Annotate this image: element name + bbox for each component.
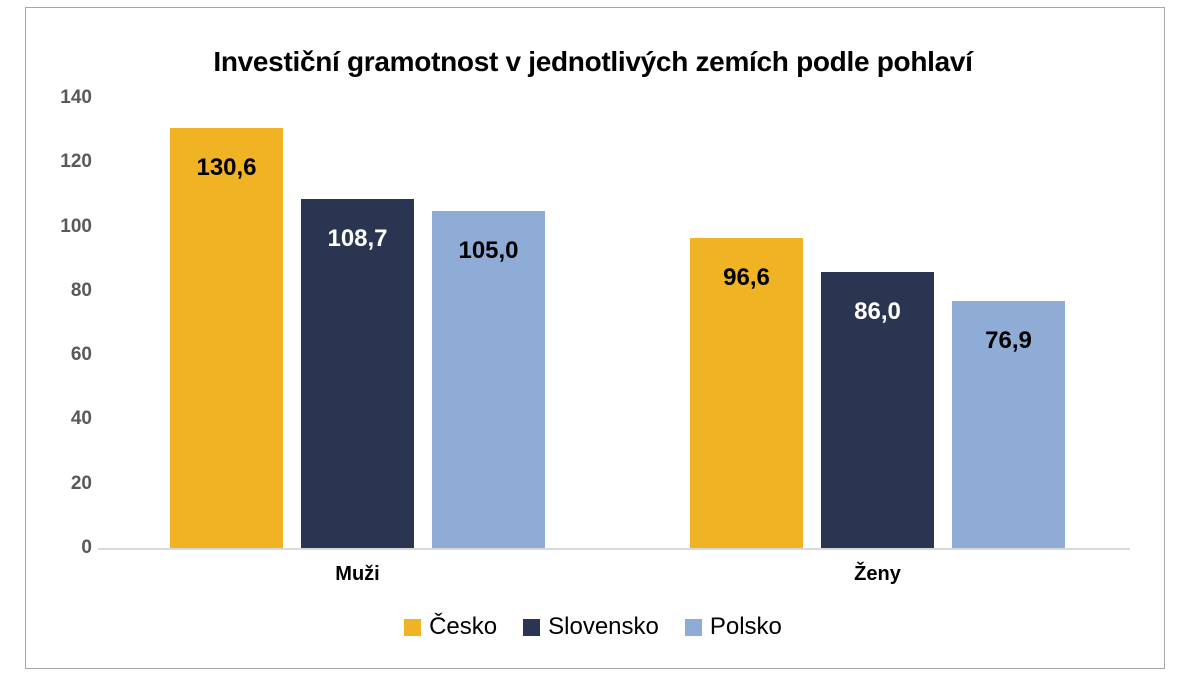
y-axis-tick-label: 120 <box>30 151 92 173</box>
y-axis-tick-label: 40 <box>30 408 92 430</box>
plot-area: 130,6108,7105,096,686,076,9 <box>98 98 1130 548</box>
chart-legend: ČeskoSlovenskoPolsko <box>0 613 1186 641</box>
bar-česko-muži[interactable]: 130,6 <box>170 128 283 548</box>
legend-swatch-icon <box>685 619 702 636</box>
bar-česko-ženy[interactable]: 96,6 <box>690 238 803 549</box>
legend-item-slovensko[interactable]: Slovensko <box>523 613 659 641</box>
category-label-muži: Muži <box>158 563 558 586</box>
category-label-ženy: Ženy <box>678 563 1078 586</box>
bar-value-label: 76,9 <box>952 327 1065 355</box>
legend-item-česko[interactable]: Česko <box>404 613 497 641</box>
y-axis-tick-label: 80 <box>30 280 92 302</box>
y-axis-tick-label: 100 <box>30 216 92 238</box>
legend-label: Polsko <box>710 613 782 641</box>
bar-slovensko-muži[interactable]: 108,7 <box>301 199 414 548</box>
y-axis-tick-label: 0 <box>30 537 92 559</box>
bar-value-label: 130,6 <box>170 154 283 182</box>
y-axis-tick-label: 60 <box>30 344 92 366</box>
y-axis-tick-label: 140 <box>30 87 92 109</box>
bar-value-label: 86,0 <box>821 298 934 326</box>
legend-label: Slovensko <box>548 613 659 641</box>
x-axis-line <box>98 548 1130 550</box>
bar-value-label: 108,7 <box>301 225 414 253</box>
y-axis-tick-label: 20 <box>30 473 92 495</box>
bar-slovensko-ženy[interactable]: 86,0 <box>821 272 934 548</box>
bar-polsko-muži[interactable]: 105,0 <box>432 211 545 549</box>
bar-value-label: 105,0 <box>432 237 545 265</box>
chart-title: Investiční gramotnost v jednotlivých zem… <box>0 46 1186 78</box>
bar-value-label: 96,6 <box>690 264 803 292</box>
bar-polsko-ženy[interactable]: 76,9 <box>952 301 1065 548</box>
legend-item-polsko[interactable]: Polsko <box>685 613 782 641</box>
y-axis: 140120100806040200 <box>20 0 92 684</box>
legend-swatch-icon <box>404 619 421 636</box>
legend-label: Česko <box>429 613 497 641</box>
legend-swatch-icon <box>523 619 540 636</box>
